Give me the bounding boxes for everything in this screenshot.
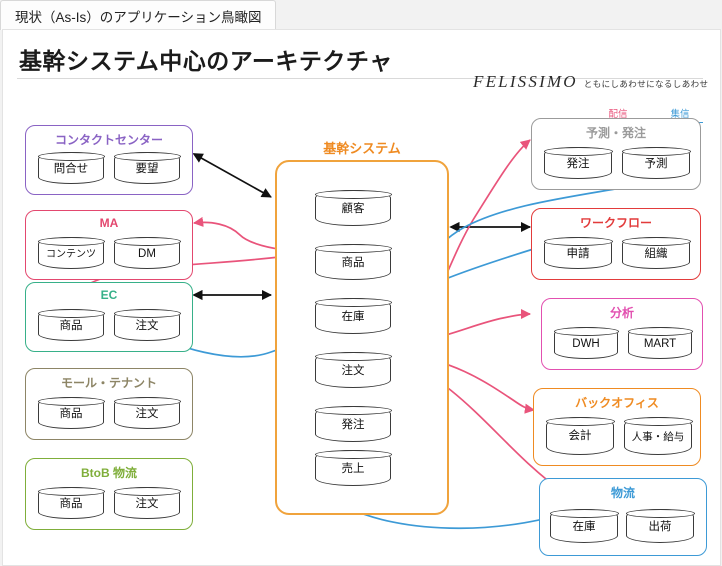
node-mall-order[interactable]: 注文	[114, 397, 180, 429]
node-dwh[interactable]: DWH	[554, 327, 618, 359]
node-mart[interactable]: MART	[628, 327, 692, 359]
group-ec-title: EC	[26, 288, 192, 302]
core-system-title: 基幹システム	[277, 138, 447, 157]
node-btob-order[interactable]: 注文	[114, 487, 180, 519]
group-ec: EC 商品 注文	[25, 282, 193, 352]
node-request[interactable]: 要望	[114, 152, 180, 184]
core-system-box: 基幹システム 顧客 商品 在庫 注文 発注 売上	[275, 160, 449, 515]
group-mall-tenant-title: モール・テナント	[26, 374, 192, 391]
node-mall-product[interactable]: 商品	[38, 397, 104, 429]
node-content[interactable]: コンテンツ	[38, 237, 104, 269]
core-node-purchase[interactable]: 発注	[315, 406, 391, 442]
core-node-inventory[interactable]: 在庫	[315, 298, 391, 334]
document-tab-label: 現状（As-Is）のアプリケーション鳥瞰図	[15, 6, 261, 26]
node-forecast-purchase[interactable]: 発注	[544, 147, 612, 179]
node-logistics-inventory[interactable]: 在庫	[550, 509, 618, 543]
group-contact-center-title: コンタクトセンター	[26, 131, 192, 148]
core-node-sales[interactable]: 売上	[315, 450, 391, 486]
group-forecast-purchase-title: 予測・発注	[532, 124, 700, 141]
node-ec-product[interactable]: 商品	[38, 309, 104, 341]
core-node-product[interactable]: 商品	[315, 244, 391, 280]
group-btob-logistics-title: BtoB 物流	[26, 464, 192, 481]
group-analysis-title: 分析	[542, 304, 702, 321]
node-hr-payroll[interactable]: 人事・給与	[624, 417, 692, 455]
node-ec-order[interactable]: 注文	[114, 309, 180, 341]
node-organization[interactable]: 組織	[622, 237, 690, 269]
group-back-office-title: バックオフィス	[534, 394, 700, 411]
group-ma-title: MA	[26, 216, 192, 230]
node-inquiry[interactable]: 問合せ	[38, 152, 104, 184]
node-application[interactable]: 申請	[544, 237, 612, 269]
slide-canvas: 基幹システム中心のアーキテクチャ FELISSIMO ともにしあわせになるしあわ…	[2, 29, 721, 566]
application-window: 現状（As-Is）のアプリケーション鳥瞰図 基幹システム中心のアーキテクチャ F…	[0, 0, 722, 566]
group-contact-center: コンタクトセンター 問合せ 要望	[25, 125, 193, 195]
core-node-order[interactable]: 注文	[315, 352, 391, 388]
node-btob-product[interactable]: 商品	[38, 487, 104, 519]
group-forecast-purchase: 予測・発注 発注 予測	[531, 118, 701, 190]
group-logistics-title: 物流	[540, 484, 706, 501]
group-mall-tenant: モール・テナント 商品 注文	[25, 368, 193, 440]
group-workflow-title: ワークフロー	[532, 214, 700, 231]
node-forecast[interactable]: 予測	[622, 147, 690, 179]
group-ma: MA コンテンツ DM	[25, 210, 193, 280]
group-workflow: ワークフロー 申請 組織	[531, 208, 701, 280]
node-accounting[interactable]: 会計	[546, 417, 614, 455]
window-titlebar: 現状（As-Is）のアプリケーション鳥瞰図	[0, 0, 722, 30]
core-node-customer[interactable]: 顧客	[315, 190, 391, 226]
node-dm[interactable]: DM	[114, 237, 180, 269]
document-tab[interactable]: 現状（As-Is）のアプリケーション鳥瞰図	[0, 0, 276, 30]
group-btob-logistics: BtoB 物流 商品 注文	[25, 458, 193, 530]
group-logistics: 物流 在庫 出荷	[539, 478, 707, 556]
group-analysis: 分析 DWH MART	[541, 298, 703, 370]
node-shipping[interactable]: 出荷	[626, 509, 694, 543]
group-back-office: バックオフィス 会計 人事・給与	[533, 388, 701, 466]
